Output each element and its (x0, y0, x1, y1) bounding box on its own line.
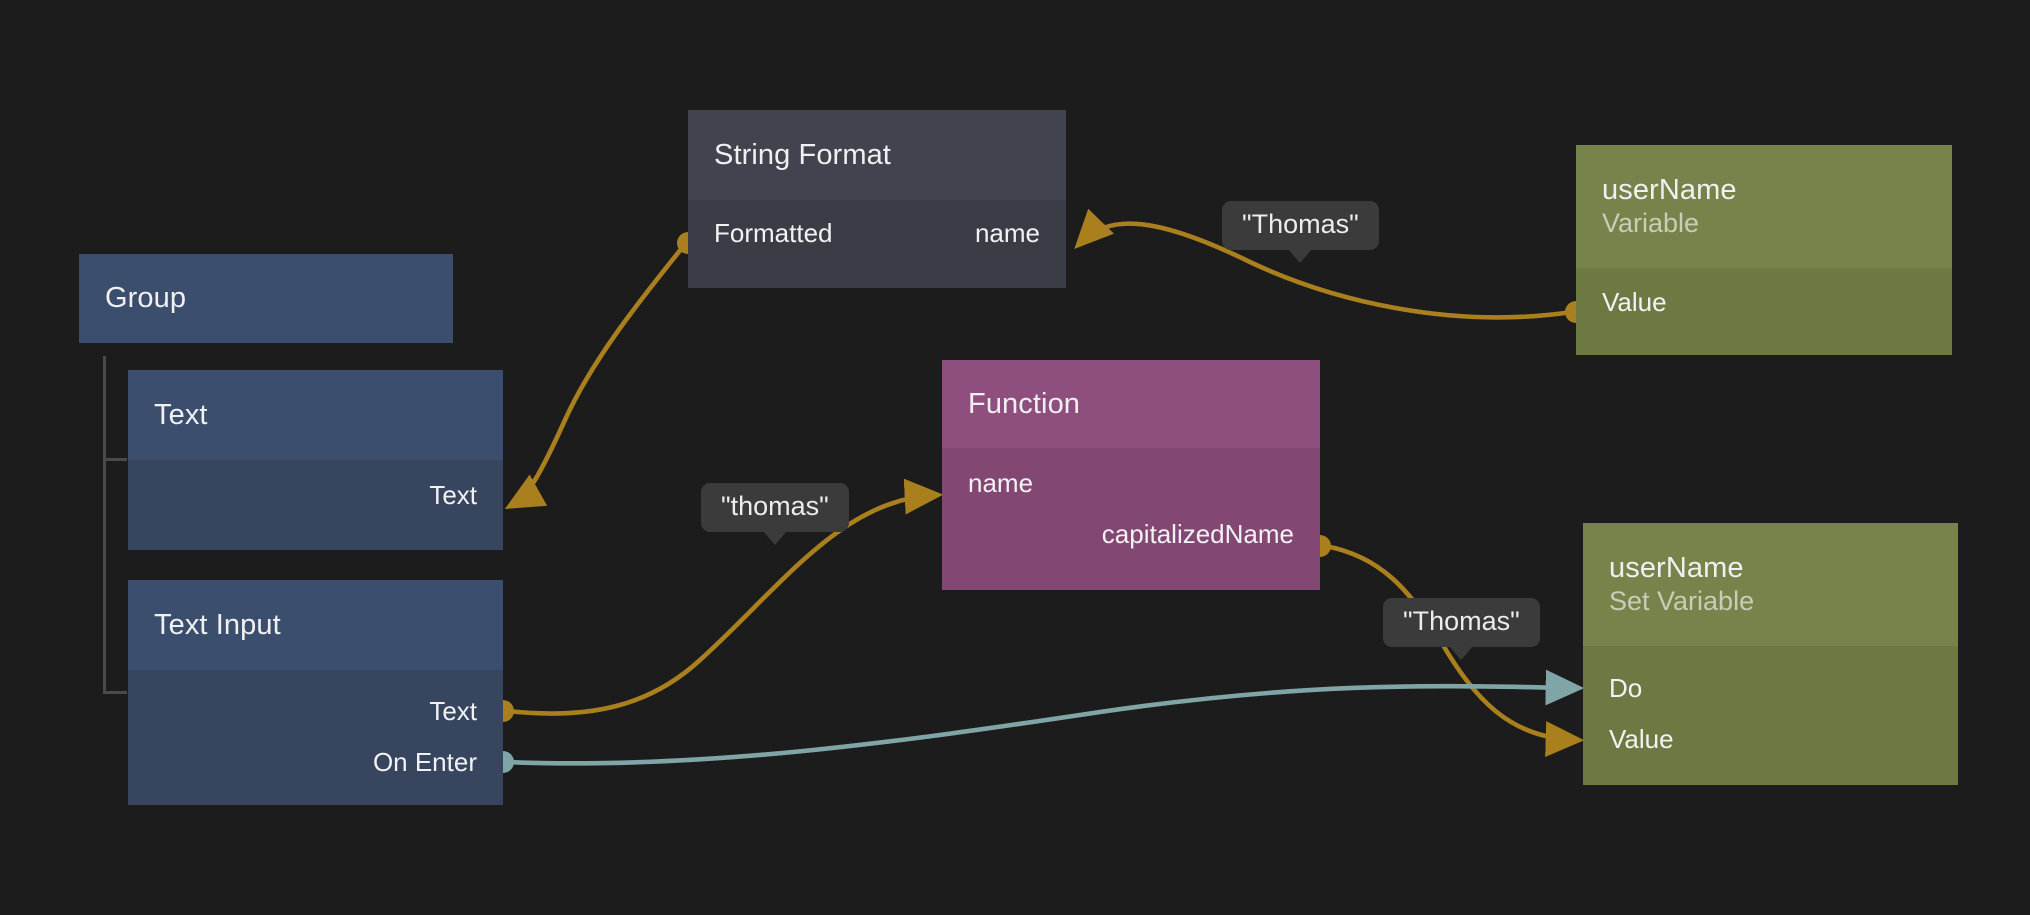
port-function-capitalizedname-out[interactable]: capitalizedName (1102, 517, 1294, 551)
port-label: name (975, 218, 1040, 249)
tooltip-pointer (763, 531, 787, 545)
node-variable-set-subtitle: Set Variable (1609, 586, 1932, 617)
node-function-header[interactable]: Function (942, 360, 1320, 448)
port-label: Value (1602, 287, 1667, 318)
group-tree-branch-text (103, 458, 127, 461)
node-text-input[interactable]: Text Input Text On Enter (128, 580, 503, 805)
group-tree-branch-textinput (103, 691, 127, 694)
tooltip-value: "Thomas" (1403, 607, 1520, 637)
node-variable-set-body: Do Value (1583, 646, 1958, 785)
port-label: Text (429, 480, 477, 511)
port-label: Do (1609, 673, 1642, 704)
node-text-title: Text (154, 399, 477, 431)
port-text-input-onenter-out[interactable]: On Enter (373, 745, 477, 779)
node-variable-get-body: Value (1576, 268, 1952, 355)
group-tree-vertical (103, 356, 106, 694)
node-string-format-body: Formatted name (688, 200, 1066, 288)
tooltip-value: "thomas" (721, 492, 829, 522)
node-group-header[interactable]: Group (79, 254, 453, 343)
node-variable-get-subtitle: Variable (1602, 208, 1926, 239)
node-text-input-title: Text Input (154, 609, 477, 641)
port-label: Formatted (714, 218, 833, 249)
port-string-format-name-in[interactable]: name (975, 216, 1040, 250)
node-variable-get[interactable]: userName Variable Value (1576, 145, 1952, 355)
port-variable-set-do-in[interactable]: Do (1609, 671, 1642, 705)
edge-onenter-to-do (492, 686, 1576, 773)
port-text-input-text-out[interactable]: Text (429, 694, 477, 728)
node-function-body: name capitalizedName (942, 448, 1320, 590)
port-label: Value (1609, 724, 1674, 755)
node-string-format-header[interactable]: String Format (688, 110, 1066, 200)
node-function[interactable]: Function name capitalizedName (942, 360, 1320, 590)
tooltip-pointer (1288, 249, 1312, 263)
port-text-text-in[interactable]: Text (429, 478, 477, 512)
node-variable-set[interactable]: userName Set Variable Do Value (1583, 523, 1958, 785)
node-variable-get-title: userName (1602, 174, 1926, 206)
node-string-format-title: String Format (714, 139, 1040, 171)
node-text-header[interactable]: Text (128, 370, 503, 460)
edge-stringformat-to-text (512, 232, 699, 505)
tooltip-thomas-set: "Thomas" (1383, 598, 1540, 647)
tooltip-value: "Thomas" (1242, 210, 1359, 240)
node-text-body: Text (128, 460, 503, 550)
tooltip-thomas-upper: "Thomas" (1222, 201, 1379, 250)
port-label: Text (429, 696, 477, 727)
node-text-input-body: Text On Enter (128, 670, 503, 805)
port-variable-set-value-in[interactable]: Value (1609, 722, 1674, 756)
port-variable-get-value-out[interactable]: Value (1602, 285, 1667, 319)
tooltip-pointer (1449, 646, 1473, 660)
node-variable-set-header[interactable]: userName Set Variable (1583, 523, 1958, 646)
port-function-name-in[interactable]: name (968, 466, 1033, 500)
port-label: name (968, 468, 1033, 499)
port-label: capitalizedName (1102, 519, 1294, 550)
node-string-format[interactable]: String Format Formatted name (688, 110, 1066, 288)
port-label: On Enter (373, 747, 477, 778)
node-graph-canvas[interactable]: Group Text Text Text Input Text On Enter (0, 0, 2030, 915)
node-function-title: Function (968, 388, 1294, 420)
node-variable-get-header[interactable]: userName Variable (1576, 145, 1952, 268)
node-group-title: Group (105, 282, 427, 314)
node-variable-set-title: userName (1609, 552, 1932, 584)
tooltip-thomas-lower: "thomas" (701, 483, 849, 532)
node-text-input-header[interactable]: Text Input (128, 580, 503, 670)
node-group[interactable]: Group (79, 254, 453, 343)
node-text[interactable]: Text Text (128, 370, 503, 550)
port-string-format-formatted-out[interactable]: Formatted (714, 216, 833, 250)
